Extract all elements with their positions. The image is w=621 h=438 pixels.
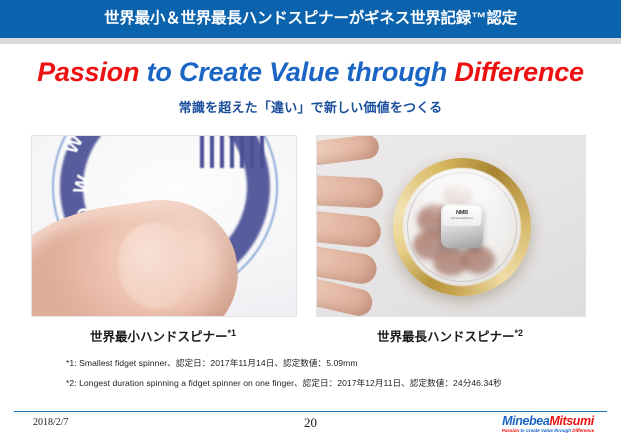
logo-tagline: Passion to Create Value through Differen… [487, 428, 609, 434]
certificate-bars [200, 135, 274, 168]
caption-left-mark: *1 [228, 328, 237, 338]
caption-longest-spinner: 世界最長ハンドスピナー*2 [316, 326, 584, 345]
page-title: 世界最小＆世界最長ハンドスピナーがギネス世界記録™認定 [0, 0, 621, 38]
headline-part-3: Difference [454, 57, 584, 87]
large-spinner: NMB MinebeaMitsumi [393, 158, 531, 296]
logo-tag-part-1: Passion [502, 428, 519, 433]
spinner-hub-face: NMB MinebeaMitsumi [443, 206, 481, 226]
header-shadow-strip [0, 38, 621, 44]
footnote-1: *1: Smallest fidget spinner、認定日：2017年11月… [66, 357, 358, 369]
photo-smallest-spinner: W O R L D W O R D R R T I [31, 135, 297, 317]
footer-divider [14, 411, 607, 412]
logo-name-blue: Minebea [502, 414, 549, 428]
headline-part-2: to Create Value through [139, 57, 454, 87]
logo-tag-part-3: Difference [572, 428, 594, 433]
hub-logo-subtext: MinebeaMitsumi [443, 216, 481, 220]
headline: Passion to Create Value through Differen… [0, 57, 621, 88]
slide: 世界最小＆世界最長ハンドスピナーがギネス世界記録™認定 Passion to C… [0, 0, 621, 438]
caption-right-text: 世界最長ハンドスピナー [377, 330, 515, 344]
footnote-2: *2: Longest duration spinning a fidget s… [66, 377, 502, 389]
minebeamitsumi-logo: MinebeaMitsumi Passion to Create Value t… [487, 415, 609, 434]
photo-longest-spinner: NMB MinebeaMitsumi [316, 135, 586, 317]
spinner-hub: NMB MinebeaMitsumi [441, 204, 483, 248]
logo-wordmark: MinebeaMitsumi [487, 415, 609, 428]
logo-tag-part-2: to Create Value through [519, 428, 572, 433]
subheadline: 常識を超えた「違い」で新しい価値をつくる [0, 97, 621, 116]
caption-smallest-spinner: 世界最小ハンドスピナー*1 [31, 326, 295, 345]
logo-name-red: Mitsumi [549, 414, 593, 428]
headline-part-1: Passion [37, 57, 139, 87]
fingernail [113, 218, 198, 313]
caption-right-mark: *2 [515, 328, 524, 338]
caption-left-text: 世界最小ハンドスピナー [90, 330, 228, 344]
